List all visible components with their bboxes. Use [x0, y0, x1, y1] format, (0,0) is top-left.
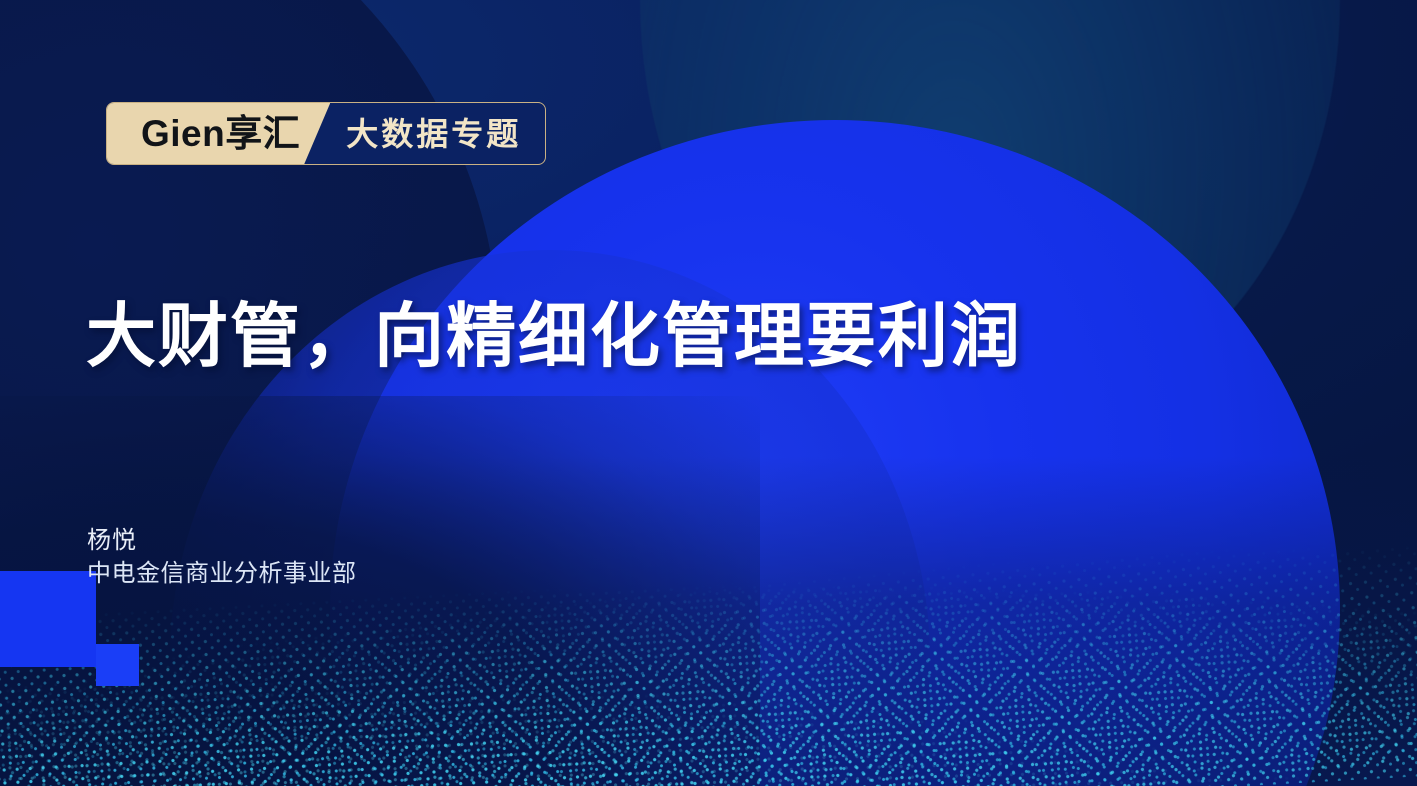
title-slide: Gien享汇 大数据专题 大财管，向精细化管理要利润 杨悦 中电金信商业分析事业…	[0, 0, 1417, 786]
speaker-organization: 中电金信商业分析事业部	[87, 557, 357, 590]
left-dark-veil	[0, 396, 760, 786]
logo-badge-series: 大数据专题	[316, 103, 545, 164]
blue-square-small	[96, 644, 139, 686]
logo-badge-brand: Gien享汇	[107, 103, 330, 164]
logo-badge: Gien享汇 大数据专题	[106, 102, 546, 165]
blue-square-large	[0, 571, 96, 667]
speaker-block: 杨悦 中电金信商业分析事业部	[87, 524, 357, 590]
page-title: 大财管，向精细化管理要利润	[86, 300, 1022, 374]
speaker-name: 杨悦	[87, 524, 357, 557]
logo-series-text: 大数据专题	[346, 118, 521, 150]
logo-brand-text: Gien享汇	[141, 115, 300, 152]
